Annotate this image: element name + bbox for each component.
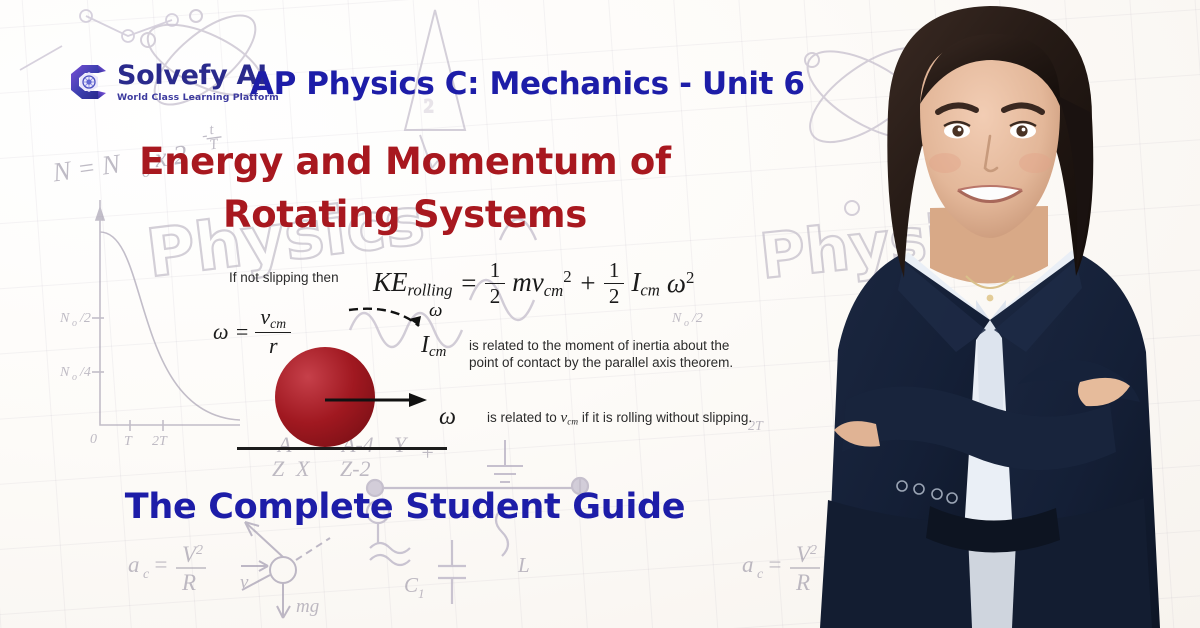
ke-plus: + <box>579 268 597 299</box>
angular-velocity-description: is related to vcm if it is rolling witho… <box>487 404 752 429</box>
definition-angular-velocity: ω is related to vcm if it is rolling wit… <box>439 404 754 431</box>
svg-text:a: a <box>128 552 140 577</box>
if-not-slipping-note: If not slipping then <box>229 270 359 286</box>
ground-line <box>237 447 447 450</box>
svg-text:C: C <box>404 573 419 597</box>
omega-denominator: r <box>269 333 278 357</box>
svg-text:1: 1 <box>418 586 425 601</box>
kinetic-energy-equation: KErolling = 1 2 mvcm2 + 1 2 Icm ω2 <box>373 260 694 307</box>
svg-text:V: V <box>182 542 199 567</box>
svg-text:c: c <box>757 567 764 582</box>
svg-text:c: c <box>143 567 150 582</box>
angular-velocity-symbol: ω <box>439 404 473 431</box>
ke-lhs: KErolling <box>373 267 452 301</box>
equals-sign: = <box>235 319 250 345</box>
omega-symbol: ω <box>213 319 229 345</box>
omega-fraction: vcm r <box>255 306 291 357</box>
velocity-arrow-icon <box>323 390 433 410</box>
svg-text:T: T <box>124 434 133 449</box>
definition-moment-of-inertia: Icm is related to the moment of inertia … <box>421 332 751 371</box>
svg-text:/4: /4 <box>79 365 91 380</box>
svg-text:2T: 2T <box>152 434 168 449</box>
page-title-line-2: Rotating Systems <box>0 189 810 242</box>
svg-text:a: a <box>742 552 754 577</box>
omega-numerator: vcm <box>255 306 291 333</box>
page-title: Energy and Momentum of Rotating Systems <box>0 136 810 241</box>
ke-half-2: 1 2 <box>604 260 625 307</box>
inertia-description: is related to the moment of inertia abou… <box>469 332 751 371</box>
svg-text:N: N <box>59 311 70 326</box>
hexagon-c-logo-icon <box>68 60 108 104</box>
ke-half-1: 1 2 <box>485 260 506 307</box>
svg-text:/2: /2 <box>79 311 91 326</box>
svg-text:0: 0 <box>90 432 97 447</box>
instructor-photo <box>780 0 1200 628</box>
cta-subtitle: The Complete Student Guide <box>0 487 810 527</box>
svg-text:mg: mg <box>296 596 319 617</box>
svg-text:o: o <box>72 372 77 383</box>
svg-text:v: v <box>240 572 249 593</box>
omega-equation: ω = vcm r <box>213 306 291 357</box>
svg-text:R: R <box>181 570 196 595</box>
brand-logo[interactable]: Solvefy AI World Class Learning Platform <box>68 60 279 104</box>
ke-term-2: Icm <box>631 267 660 301</box>
ke-equals: = <box>459 268 477 299</box>
svg-text:N: N <box>59 365 70 380</box>
course-kicker: AP Physics C: Mechanics - Unit 6 <box>250 66 805 102</box>
inertia-symbol: Icm <box>421 332 455 361</box>
svg-text:L: L <box>517 553 530 577</box>
ke-omega-squared: ω2 <box>667 268 694 299</box>
svg-text:o: o <box>72 318 77 329</box>
rolling-motion-figure: If not slipping then ω = vcm r ω KErolli… <box>195 262 795 472</box>
svg-text:=: = <box>153 552 169 577</box>
promo-banner: N = N o x 2 - t T No/2 No/4 0 <box>0 0 1200 628</box>
ke-term-1: mvcm2 <box>512 267 571 301</box>
page-title-line-1: Energy and Momentum of <box>0 136 810 189</box>
svg-text:2: 2 <box>196 543 203 558</box>
